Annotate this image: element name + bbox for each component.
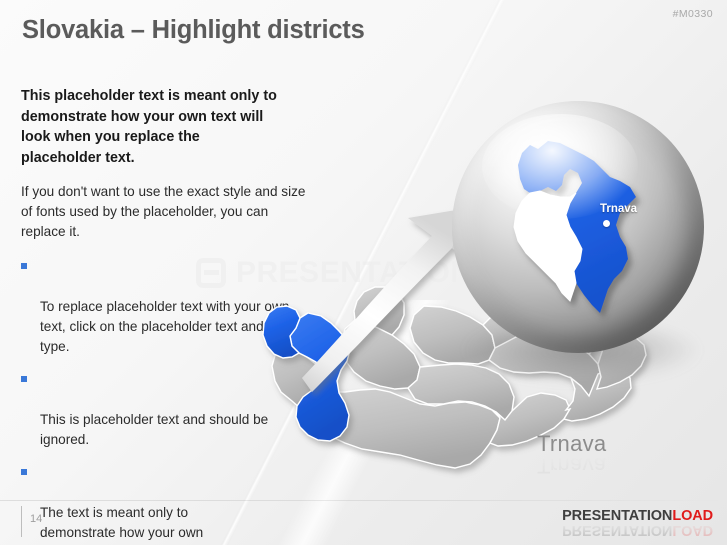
text-column: This placeholder text is meant only to d…: [21, 86, 331, 545]
list-item-label: To replace placeholder text with your ow…: [40, 299, 294, 354]
list-item-label: The text is meant only to demonstrate ho…: [40, 505, 211, 545]
district-region: [562, 309, 607, 354]
sphere-gloss-highlight: [482, 114, 638, 220]
brand-logo-primary-reflection: PRESENTATION: [562, 522, 672, 538]
district-region: [490, 393, 570, 446]
map-caption: Trnava: [537, 431, 606, 457]
district-region: [341, 320, 420, 389]
bullet-marker-icon: [21, 263, 27, 269]
zoomed-district-svg: [452, 101, 704, 353]
district-region: [408, 364, 514, 420]
district-region: [483, 313, 562, 348]
magnifier-sphere: Trnava: [452, 101, 704, 353]
bullet-list: To replace placeholder text with your ow…: [21, 257, 331, 545]
district-region: [564, 369, 631, 421]
trnava-zoom-shape: [514, 141, 636, 313]
zoom-city-label: Trnava: [600, 203, 637, 215]
list-item: This is placeholder text and should be i…: [21, 370, 316, 450]
brand-logo-reflection: PRESENTATIONLOAD: [562, 522, 713, 538]
list-item: The text is meant only to demonstrate ho…: [21, 463, 316, 545]
district-region: [313, 389, 500, 468]
footer-divider-rule: [0, 500, 727, 501]
zoom-city-marker-icon: [603, 220, 610, 227]
slide-canvas: Slovakia – Highlight districts #M0330 PR…: [0, 0, 727, 545]
sphere-rim-shading: [452, 101, 704, 353]
page-title: Slovakia – Highlight districts: [22, 16, 365, 45]
list-item: To replace placeholder text with your ow…: [21, 257, 316, 357]
intro-regular-paragraph: If you don't want to use the exact style…: [21, 182, 313, 242]
map-caption-reflection: Trnava: [537, 452, 606, 478]
page-number-divider: [21, 506, 22, 537]
page-number: 14: [30, 513, 42, 525]
list-item-label: This is placeholder text and should be i…: [40, 412, 268, 447]
district-region: [489, 335, 601, 396]
district-region: [354, 287, 404, 335]
intro-bold-paragraph: This placeholder text is meant only to d…: [21, 86, 283, 169]
sphere-body: Trnava: [452, 101, 704, 353]
brand-logo-accent-reflection: LOAD: [672, 522, 713, 538]
sphere-shadow: [466, 319, 698, 381]
bullet-marker-icon: [21, 376, 27, 382]
district-region: [410, 306, 495, 364]
bullet-marker-icon: [21, 469, 27, 475]
slide-code: #M0330: [673, 8, 713, 20]
district-region: [597, 335, 646, 389]
